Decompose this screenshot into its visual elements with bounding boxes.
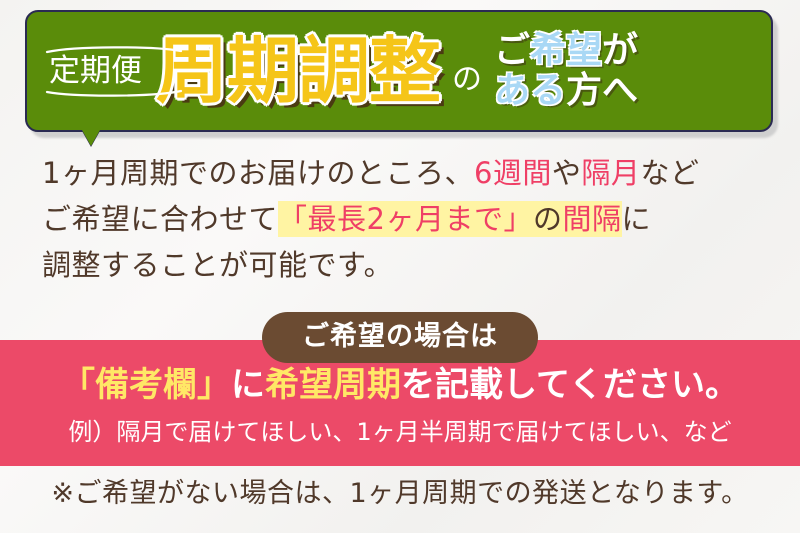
subtitle-kibou: 希望 [530,30,602,71]
instruction-please-write: を記載してください。 [401,365,739,405]
desc-l2-part1: ご希望に合わせて [42,202,278,236]
instruction-main-text: 「備考欄」に希望周期を記載してください。 [0,368,800,402]
header-banner: 定期便 周期調整 の ご希望が ある方へ [0,0,800,145]
subtitle-go: ご [494,30,530,71]
title-particle: の [452,65,482,95]
subscription-badge: 定期便 [43,43,148,100]
subtitle-aru: ある [494,70,566,111]
decorative-line-top-icon [45,45,183,54]
instruction-desired-cycle: 希望周期 [265,365,401,405]
desc-l1-part1: 1ヶ月周期でのお届けのところ、 [42,156,474,190]
desc-highlight-interval: 間隔 [562,201,621,237]
desc-l1-part2: や [552,156,582,190]
description-line-3: 調整することが可能です。 [42,242,772,288]
desc-l2-part2: に [622,202,652,236]
description-line-2: ご希望に合わせて「最長2ヶ月まで」の間隔に [42,196,772,242]
desc-highlight-max2months: 「最長2ヶ月まで」 [278,201,533,237]
page-title: 周期調整 [156,35,440,107]
desc-l1-part3: など [640,156,699,190]
promotional-banner: 定期便 周期調整 の ご希望が ある方へ 1ヶ月周期でのお届けのところ、6週間や… [0,0,800,533]
subscription-badge-label: 定期便 [49,56,142,87]
header-content: 定期便 周期調整 の ご希望が ある方へ [25,10,773,132]
description-paragraph: 1ヶ月周期でのお届けのところ、6週間や隔月など ご希望に合わせて「最長2ヶ月まで… [42,150,772,288]
desc-highlight-6weeks: 6週間 [474,156,552,190]
description-line-1: 1ヶ月周期でのお届けのところ、6週間や隔月など [42,150,772,196]
footer-note: ※ご希望がない場合は、1ヶ月周期での発送となります。 [0,480,800,507]
header-subtitle-line-2: ある方へ [494,72,638,111]
subtitle-ga: が [602,30,638,71]
status-badge: ご希望の場合は [262,312,538,363]
speech-bubble-tail-icon [82,130,100,146]
decorative-line-bottom-icon [45,89,183,98]
header-subtitle-line-1: ご希望が [494,32,638,71]
desc-highlight-bimonthly: 隔月 [581,156,640,190]
instruction-ni: に [231,365,265,405]
header-subtitle: ご希望が ある方へ [494,32,638,110]
instruction-example-text: 例）隔月で届けてほしい、1ヶ月半周期で届けてほしい、など [0,420,800,444]
instruction-remarks-field: 「備考欄」 [61,365,231,405]
desc-l2-no: の [533,201,563,237]
subtitle-katahe: 方へ [566,70,638,111]
